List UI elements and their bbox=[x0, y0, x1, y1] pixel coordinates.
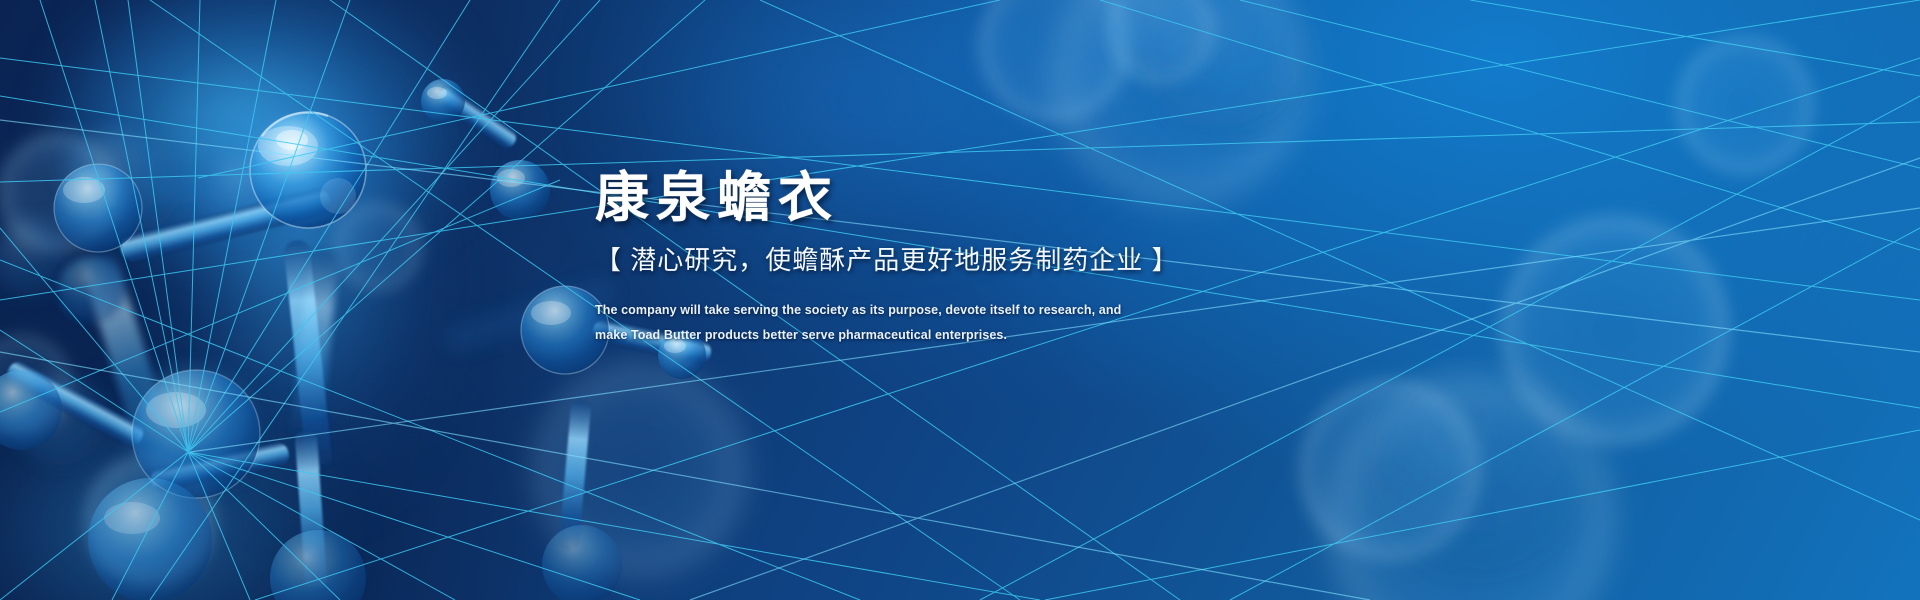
banner-description: The company will take serving the societ… bbox=[595, 298, 1355, 347]
banner-description-line-2: make Toad Butter products better serve p… bbox=[595, 323, 1355, 347]
background-glow-left-lower bbox=[150, 90, 450, 510]
background-glow-left bbox=[60, 0, 480, 290]
hero-banner: 康泉蟾衣 【 潜心研究，使蟾酥产品更好地服务制药企业 】 The company… bbox=[0, 0, 1920, 600]
banner-title: 康泉蟾衣 bbox=[595, 168, 1355, 228]
background-glow-bottom-left bbox=[0, 400, 340, 600]
banner-description-line-1: The company will take serving the societ… bbox=[595, 298, 1355, 322]
banner-subtitle: 【 潜心研究，使蟾酥产品更好地服务制药企业 】 bbox=[595, 244, 1355, 278]
banner-text-block: 康泉蟾衣 【 潜心研究，使蟾酥产品更好地服务制药企业 】 The company… bbox=[595, 168, 1355, 347]
